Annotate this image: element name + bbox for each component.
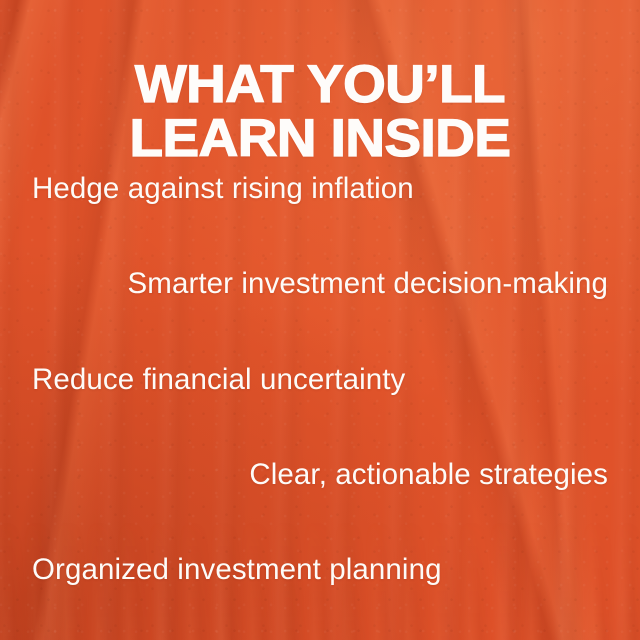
- list-item: Organized investment planning: [32, 553, 442, 587]
- list-item: Hedge against rising inflation: [32, 172, 414, 206]
- list-item: Clear, actionable strategies: [249, 458, 608, 492]
- headline-line-1: WHAT YOU’LL: [0, 58, 640, 112]
- page-title: WHAT YOU’LL LEARN INSIDE: [0, 58, 640, 166]
- headline-line-2: LEARN INSIDE: [0, 112, 640, 166]
- promo-poster: WHAT YOU’LL LEARN INSIDE Hedge against r…: [0, 0, 640, 640]
- list-item: Smarter investment decision-making: [128, 267, 609, 301]
- poster-content: WHAT YOU’LL LEARN INSIDE Hedge against r…: [0, 0, 640, 640]
- list-item: Reduce financial uncertainty: [32, 363, 405, 397]
